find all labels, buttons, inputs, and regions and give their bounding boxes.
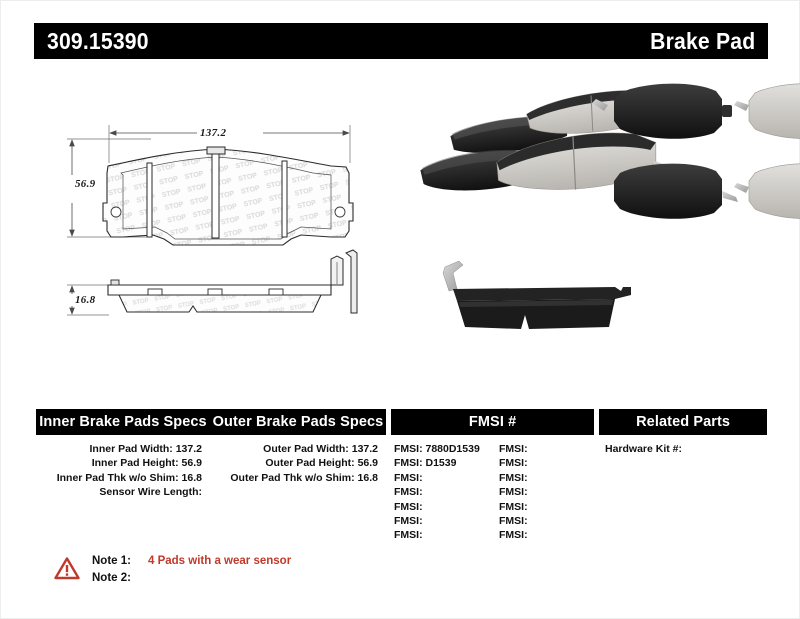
column-inner-specs: Inner Pad Width: 137.2 Inner Pad Height:… — [36, 442, 210, 543]
spec-row: Outer Pad Width: 137.2 — [210, 442, 386, 456]
fmsi-row: FMSI: — [491, 485, 596, 499]
notes-section: Note 1: 4 Pads with a wear sensor Note 2… — [54, 553, 291, 587]
spec-row: Inner Pad Width: 137.2 — [36, 442, 210, 456]
part-number: 309.15390 — [47, 28, 149, 55]
spec-row: Outer Pad Height: 56.9 — [210, 456, 386, 470]
header-cell-specs: Inner Brake Pads Specs Outer Brake Pads … — [36, 409, 386, 435]
header-cell-related-parts: Related Parts — [599, 409, 767, 435]
column-outer-specs: Outer Pad Width: 137.2 Outer Pad Height:… — [210, 442, 386, 543]
brake-pad-side-view — [67, 250, 357, 315]
note-row-2: Note 2: — [92, 570, 291, 587]
technical-drawings: STOP STOP — [1, 63, 401, 388]
fmsi-row: FMSI: — [386, 500, 491, 514]
table-header-row: Inner Brake Pads Specs Outer Brake Pads … — [36, 409, 767, 435]
fmsi-row: FMSI: 7880D1539 — [386, 442, 491, 456]
product-spec-sheet: 309.15390 Brake Pad STOP STOP — [0, 0, 800, 619]
note-1-value: 4 Pads with a wear sensor — [142, 553, 291, 570]
fmsi-row: FMSI: — [491, 471, 596, 485]
wear-sensor-bracket — [331, 250, 357, 313]
header-inner-specs: Inner Brake Pads Specs — [36, 414, 210, 430]
note-row-1: Note 1: 4 Pads with a wear sensor — [92, 553, 291, 570]
related-part-row: Hardware Kit #: — [597, 442, 767, 456]
width-dimension-label: 137.2 — [200, 127, 226, 139]
height-dimension-label: 56.9 — [75, 178, 95, 190]
warning-icon — [54, 556, 80, 580]
fmsi-row: FMSI: — [386, 528, 491, 542]
brake-pad-profile-photo — [443, 261, 631, 329]
thickness-dimension-label: 16.8 — [75, 294, 95, 306]
spec-row: Outer Pad Thk w/o Shim: 16.8 — [210, 471, 386, 485]
fmsi-row: FMSI: D1539 — [386, 456, 491, 470]
note-1-label: Note 1: — [92, 553, 142, 570]
product-photographs — [401, 63, 800, 388]
column-fmsi: FMSI: 7880D1539 FMSI: D1539 FMSI: FMSI: … — [386, 442, 597, 543]
fmsi-row: FMSI: — [386, 485, 491, 499]
fmsi-row: FMSI: — [491, 456, 596, 470]
note-2-label: Note 2: — [92, 570, 142, 587]
table-body: Inner Pad Width: 137.2 Inner Pad Height:… — [36, 435, 767, 543]
note-2-value — [142, 570, 148, 587]
spec-row: Inner Pad Height: 56.9 — [36, 456, 210, 470]
fmsi-row: FMSI: — [491, 500, 596, 514]
column-related-parts: Hardware Kit #: — [597, 442, 767, 543]
fmsi-row: FMSI: — [491, 528, 596, 542]
fmsi-row: FMSI: — [386, 471, 491, 485]
fmsi-subcolumn-2: FMSI: FMSI: FMSI: FMSI: FMSI: FMSI: FMSI… — [491, 442, 596, 543]
header-cell-fmsi: FMSI # — [391, 409, 594, 435]
specifications-table: Inner Brake Pads Specs Outer Brake Pads … — [36, 409, 767, 543]
header-bar: 309.15390 Brake Pad — [34, 23, 768, 59]
spec-row: Sensor Wire Length: — [36, 485, 210, 499]
header-outer-specs: Outer Brake Pads Specs — [210, 414, 386, 430]
fmsi-row: FMSI: — [491, 442, 596, 456]
spec-row: Inner Pad Thk w/o Shim: 16.8 — [36, 471, 210, 485]
fmsi-subcolumn-1: FMSI: 7880D1539 FMSI: D1539 FMSI: FMSI: … — [386, 442, 491, 543]
drawings-area: STOP STOP — [1, 63, 800, 388]
fmsi-row: FMSI: — [386, 514, 491, 528]
note-list: Note 1: 4 Pads with a wear sensor Note 2… — [92, 553, 291, 587]
fmsi-row: FMSI: — [491, 514, 596, 528]
page-title: Brake Pad — [650, 28, 755, 55]
brake-pad-front-view — [103, 147, 353, 245]
